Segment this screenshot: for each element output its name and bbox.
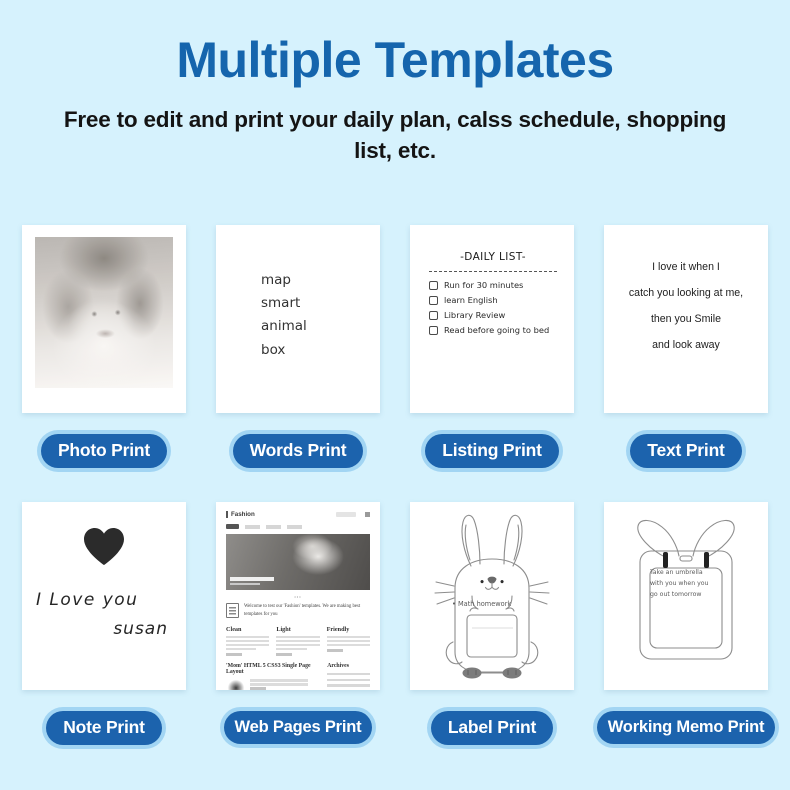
web-nav-item [245,525,260,529]
checkbox-icon[interactable] [429,281,438,290]
template-card-words-print[interactable]: map smart animal box Words Print [216,225,380,502]
web-logo: Fashion [226,511,255,518]
memo-text: Take an umbrella with you when you go ou… [650,568,716,601]
web-feature-columns: Clean Light Friendly [226,626,370,656]
web-feature-column: Friendly [327,626,370,656]
note-line-2: susan [113,619,168,639]
webpage-thumbnail: Fashion ••• [216,502,380,690]
word-item: map [261,269,307,292]
web-column-heading: Light [276,626,319,633]
template-card-working-memo-print[interactable]: Take an umbrella with you when you go ou… [604,502,768,779]
menu-icon [365,512,370,517]
web-bottom-heading: 'Mom' HTML 5 CSS3 Single Page Layout [226,663,320,675]
words-print-preview[interactable]: map smart animal box [216,225,380,413]
web-thumb-row [226,679,320,690]
quote-line: then you Smile [614,307,758,333]
web-archive-links [327,673,370,690]
word-item: box [261,339,307,362]
list-item-label: learn English [444,296,498,304]
list-item[interactable]: Library Review [429,311,557,320]
web-archives-heading: Archives [327,663,370,669]
web-body-lines [226,636,269,650]
web-search-box [336,512,356,517]
photo-print-button[interactable]: Photo Print [41,434,167,468]
web-welcome-text: Welcome to test our 'Fashion' templates.… [244,603,370,619]
web-pages-print-preview[interactable]: Fashion ••• [216,502,380,690]
quote-line: catch you looking at me, [614,281,758,307]
daily-list: -DAILY LIST- Run for 30 minutes learn En… [429,251,557,341]
list-item[interactable]: Read before going to bed [429,326,557,335]
label-text: • Math homework [452,600,511,608]
web-read-more [226,653,242,656]
document-icon [226,603,239,618]
list-item-label: Read before going to bed [444,326,549,334]
list-item[interactable]: Run for 30 minutes [429,281,557,290]
listing-print-preview[interactable]: -DAILY LIST- Run for 30 minutes learn En… [410,225,574,413]
web-bottom-right: Archives [327,663,370,690]
word-item: animal [261,315,307,338]
daily-list-title: -DAILY LIST- [429,251,557,263]
web-top-right [336,512,370,517]
web-read-more [327,649,343,652]
note-print-preview[interactable]: I Love you susan [22,502,186,690]
bunny-illustration [410,502,574,690]
web-bottom-section: 'Mom' HTML 5 CSS3 Single Page Layout Arc… [226,663,370,690]
working-memo-print-button[interactable]: Working Memo Print [597,711,776,744]
web-thumb-text [250,679,308,690]
web-column-heading: Clean [226,626,269,633]
word-item: smart [261,292,307,315]
web-nav-active [226,524,239,529]
page-subtitle: Free to edit and print your daily plan, … [45,104,745,168]
note-print-button-wrap: Note Print [22,711,186,745]
label-print-preview[interactable]: • Math homework [410,502,574,690]
web-column-heading: Friendly [327,626,370,633]
web-pages-print-button-wrap: Web Pages Print [216,711,380,744]
note-print-button[interactable]: Note Print [46,711,162,745]
label-print-button[interactable]: Label Print [431,711,553,745]
girl-portrait-image [35,237,173,388]
template-card-note-print[interactable]: I Love you susan Note Print [22,502,186,779]
quote-block: I love it when I catch you looking at me… [614,255,758,359]
web-nav-item [266,525,281,529]
template-card-text-print[interactable]: I love it when I catch you looking at me… [604,225,768,502]
listing-print-button-wrap: Listing Print [410,434,574,468]
text-print-button-wrap: Text Print [604,434,768,468]
promo-page: Multiple Templates Free to edit and prin… [0,0,790,790]
list-item-label: Run for 30 minutes [444,281,523,289]
words-list: map smart animal box [261,269,307,362]
web-read-more [276,653,292,656]
web-pages-print-button[interactable]: Web Pages Print [224,711,373,744]
list-item-label: Library Review [444,311,505,319]
template-card-photo-print[interactable]: Photo Print [22,225,186,502]
web-body-lines [327,636,370,646]
web-body-lines [276,636,319,650]
heart-icon [82,526,126,566]
quote-line: and look away [614,333,758,359]
quote-line: I love it when I [614,255,758,281]
list-item[interactable]: learn English [429,296,557,305]
web-feature-column: Light [276,626,319,656]
working-memo-print-preview[interactable]: Take an umbrella with you when you go ou… [604,502,768,690]
label-print-button-wrap: Label Print [410,711,574,745]
web-nav [226,524,370,529]
text-print-preview[interactable]: I love it when I catch you looking at me… [604,225,768,413]
checkbox-icon[interactable] [429,311,438,320]
photo-print-button-wrap: Photo Print [22,434,186,468]
working-memo-print-button-wrap: Working Memo Print [604,711,768,744]
web-topbar: Fashion [226,511,370,518]
template-grid: Photo Print map smart animal box Words P… [22,225,768,779]
listing-print-button[interactable]: Listing Print [425,434,558,468]
template-card-web-pages-print[interactable]: Fashion ••• [216,502,380,779]
web-thumbnail-image [226,679,246,690]
carousel-dots-icon: ••• [226,594,370,599]
web-hero-image [226,534,370,590]
template-card-listing-print[interactable]: -DAILY LIST- Run for 30 minutes learn En… [410,225,574,502]
checkbox-icon[interactable] [429,326,438,335]
checkbox-icon[interactable] [429,296,438,305]
template-card-label-print[interactable]: • Math homework Label Print [410,502,574,779]
note-line-1: I Love you [36,590,138,610]
page-title: Multiple Templates [0,0,790,90]
web-hero-caption [230,577,274,586]
web-nav-item [287,525,302,529]
web-bottom-left: 'Mom' HTML 5 CSS3 Single Page Layout [226,663,320,690]
web-feature-column: Clean [226,626,269,656]
words-print-button[interactable]: Words Print [233,434,364,468]
web-welcome-block: Welcome to test our 'Fashion' templates.… [226,603,370,619]
text-print-button[interactable]: Text Print [630,434,741,468]
photo-print-preview[interactable] [22,225,186,413]
words-print-button-wrap: Words Print [216,434,380,468]
dashed-divider [429,271,557,272]
